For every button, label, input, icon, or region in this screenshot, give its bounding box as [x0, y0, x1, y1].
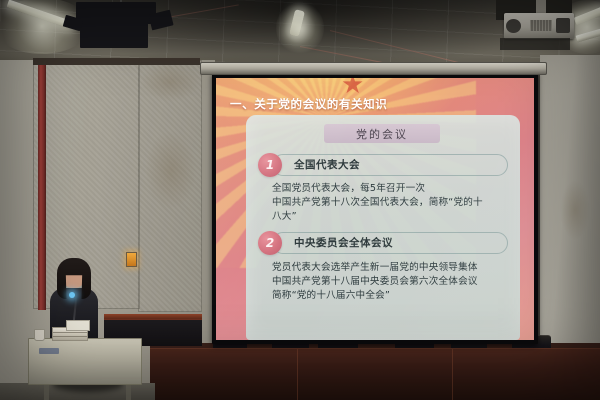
amber-indicator-light-icon — [126, 252, 137, 267]
desk-seam — [452, 349, 453, 400]
slide-item-2-line-2: 中国共产党第十八届中央委员会第六次全体会议 — [272, 275, 512, 289]
light-glow — [276, 2, 324, 54]
projector-lens — [506, 19, 521, 33]
slide-item-1-line-3: 八大” — [272, 210, 512, 224]
side-table-surface — [104, 314, 202, 319]
stage-light-icon — [76, 2, 156, 24]
slide-item-1: 1 全国代表大会 — [258, 154, 510, 176]
ceiling-projector-icon — [504, 13, 574, 39]
slide-item-1-body: 全国党员代表大会，每5年召开一次 中国共产党第十八次全国代表大会，简称“党的十 … — [272, 182, 512, 224]
desk-seam — [297, 349, 298, 400]
podium-logo — [39, 348, 59, 354]
projection-screen: 一、关于党的会议的有关知识 党的会议 1 全国代表大会 全国党员代表大会，每5年… — [212, 72, 538, 344]
projector-vent — [530, 20, 552, 31]
slide-item-2-label: 中央委员会全体会议 — [294, 235, 393, 250]
stage-light-body — [80, 22, 148, 48]
slide-item-1-line-1: 全国党员代表大会，每5年召开一次 — [272, 182, 512, 196]
microphone-led-icon — [69, 292, 75, 298]
slide-item-1-line-2: 中国共产党第十八次全国代表大会，简称“党的十 — [272, 196, 512, 210]
projector-mount — [536, 0, 546, 14]
lecture-hall-photo: 一、关于党的会议的有关知识 党的会议 1 全国代表大会 全国党员代表大会，每5年… — [0, 0, 600, 400]
slide-header-chip: 党的会议 — [324, 124, 440, 143]
slide-item-2: 2 中央委员会全体会议 — [258, 232, 510, 254]
wall-stain — [145, 130, 197, 210]
wall-stain — [560, 180, 590, 240]
wall-stain — [140, 62, 200, 102]
slide-content-card: 党的会议 1 全国代表大会 全国党员代表大会，每5年召开一次 中国共产党第十八次… — [246, 115, 520, 340]
slide-item-2-line-1: 党员代表大会选举产生新一届党的中央领导集体 — [272, 261, 512, 275]
ceiling-recess — [500, 38, 570, 50]
book-edge — [53, 336, 87, 337]
slide-title: 一、关于党的会议的有关知识 — [230, 96, 387, 112]
front-desk — [150, 348, 600, 400]
slide-item-2-line-3: 简称“党的十八届六中全会” — [272, 289, 512, 303]
speaker-podium — [28, 338, 142, 385]
paper-stack — [66, 320, 90, 331]
slide-item-1-label: 全国代表大会 — [294, 157, 360, 172]
slide-surface: 一、关于党的会议的有关知识 党的会议 1 全国代表大会 全国党员代表大会，每5年… — [216, 78, 534, 340]
slide-item-2-number: 2 — [258, 231, 282, 255]
slide-header-chip-label: 党的会议 — [356, 126, 408, 142]
screen-roller-housing — [200, 62, 547, 75]
projector-panel — [556, 18, 570, 33]
slide-item-2-body: 党员代表大会选举产生新一届党的中央领导集体 中国共产党第十八届中央委员会第六次全… — [272, 261, 512, 303]
red-pillar — [38, 62, 46, 310]
wall-top-beam — [33, 58, 200, 65]
book-edge — [53, 332, 87, 333]
drinking-cup — [34, 329, 45, 341]
slide-item-1-number: 1 — [258, 153, 282, 177]
